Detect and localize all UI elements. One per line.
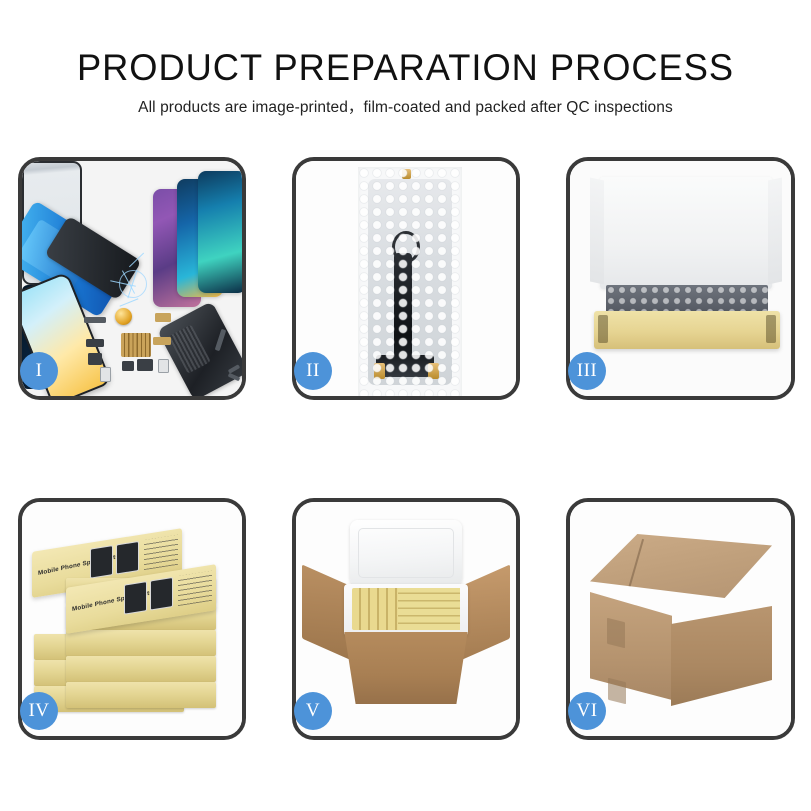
bubble-bag <box>358 167 462 396</box>
carton-left-face <box>590 592 672 700</box>
box-window-2 <box>116 541 139 575</box>
carton-tape-1 <box>607 618 625 648</box>
part-icon-3 <box>86 339 104 347</box>
connector-chip-icon <box>121 333 151 357</box>
box-window-2 <box>150 577 173 611</box>
foam-box-lid <box>350 520 462 586</box>
step-badge-2: II <box>294 352 332 390</box>
stacked-box <box>66 682 216 708</box>
teal-phone-2-icon <box>198 171 242 293</box>
process-step-grid: I II <box>0 0 811 811</box>
stacked-box <box>66 656 216 682</box>
kraft-boxes-inside <box>352 588 460 630</box>
step-badge-1: I <box>20 352 58 390</box>
step-badge-5: V <box>294 692 332 730</box>
part-icon-1 <box>84 317 106 323</box>
part-icon-2 <box>155 313 171 322</box>
part-icon-7 <box>100 367 111 382</box>
step-badge-4: IV <box>20 692 58 730</box>
part-icon-8 <box>137 359 153 371</box>
infographic-page: PRODUCT PREPARATION PROCESS All products… <box>0 0 811 811</box>
carton-tape-2 <box>608 678 626 704</box>
part-icon-5 <box>153 337 171 345</box>
part-icon-4 <box>88 353 102 365</box>
bubble-texture <box>358 167 462 396</box>
box-window-1 <box>90 545 113 579</box>
carton-front-panel <box>336 632 476 704</box>
carton-top-face <box>590 534 772 598</box>
box-spec-lines <box>144 535 178 570</box>
part-icon-9 <box>158 359 169 373</box>
part-icon-6 <box>122 361 134 371</box>
step-badge-6: VI <box>568 692 606 730</box>
stacked-box <box>66 630 216 656</box>
step-badge-3: III <box>568 352 606 390</box>
box-window-1 <box>124 581 147 615</box>
box-spec-lines <box>178 571 212 606</box>
box-lid-open <box>600 177 772 289</box>
carton-right-face <box>671 606 772 706</box>
kraft-box-tray <box>594 311 780 349</box>
box-stack: Mobile Phone Spare Parts Mobile Phone Sp… <box>26 516 238 716</box>
speaker-module-icon <box>115 308 132 325</box>
